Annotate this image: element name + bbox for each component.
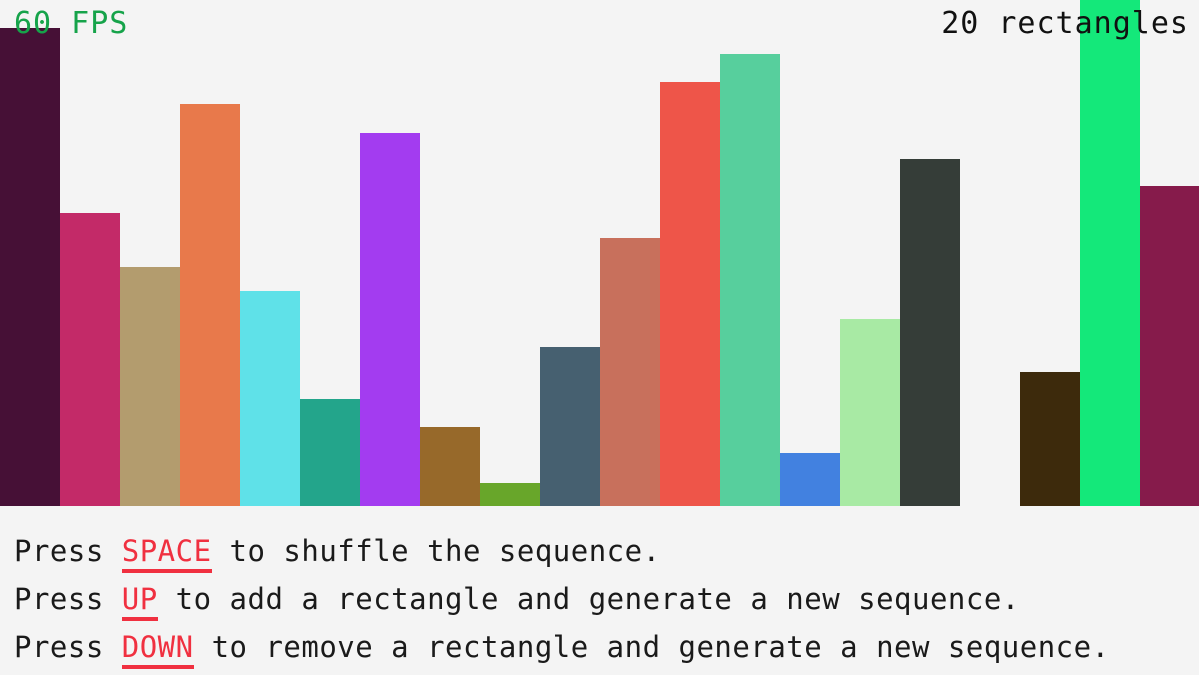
instructions-panel: Press SPACE to shuffle the sequence. Pre… [0, 506, 1199, 675]
instruction-line-add: Press UP to add a rectangle and generate… [14, 584, 1020, 614]
key-down[interactable]: DOWN [122, 630, 194, 669]
key-space[interactable]: SPACE [122, 534, 212, 573]
bar-terracotta [600, 238, 660, 506]
rectangle-sequence-canvas [0, 0, 1199, 506]
bar-cyan [240, 291, 300, 506]
rectangle-count-label: 20 rectangles [941, 9, 1189, 39]
instruction-prefix: Press [14, 630, 122, 664]
bar-red [660, 82, 720, 506]
instruction-prefix: Press [14, 534, 122, 568]
instruction-line-remove: Press DOWN to remove a rectangle and gen… [14, 632, 1110, 662]
bar-blue [780, 453, 840, 506]
instruction-prefix: Press [14, 582, 122, 616]
bar-magenta [60, 213, 120, 506]
bar-light-green [840, 319, 900, 506]
bar-wine [1140, 186, 1199, 506]
app-root: 60 FPS 20 rectangles Press SPACE to shuf… [0, 0, 1199, 675]
bar-tan [120, 267, 180, 506]
bar-olive-green [480, 483, 540, 506]
fps-counter: 60 FPS [14, 9, 128, 39]
bar-dark-gray [900, 159, 960, 506]
bar-teal [300, 399, 360, 506]
bar-purple [360, 133, 420, 506]
instruction-suffix: to shuffle the sequence. [212, 534, 661, 568]
bar-slate-blue [540, 347, 600, 506]
bar-brown [420, 427, 480, 506]
instruction-suffix: to remove a rectangle and generate a new… [194, 630, 1110, 664]
bar-bright-green [1080, 0, 1140, 506]
instruction-line-shuffle: Press SPACE to shuffle the sequence. [14, 536, 661, 566]
bar-mint-green [720, 54, 780, 506]
bar-dark-plum [0, 28, 60, 506]
instruction-suffix: to add a rectangle and generate a new se… [158, 582, 1020, 616]
key-up[interactable]: UP [122, 582, 158, 621]
bar-dark-brown [1020, 372, 1080, 506]
bar-orange [180, 104, 240, 506]
